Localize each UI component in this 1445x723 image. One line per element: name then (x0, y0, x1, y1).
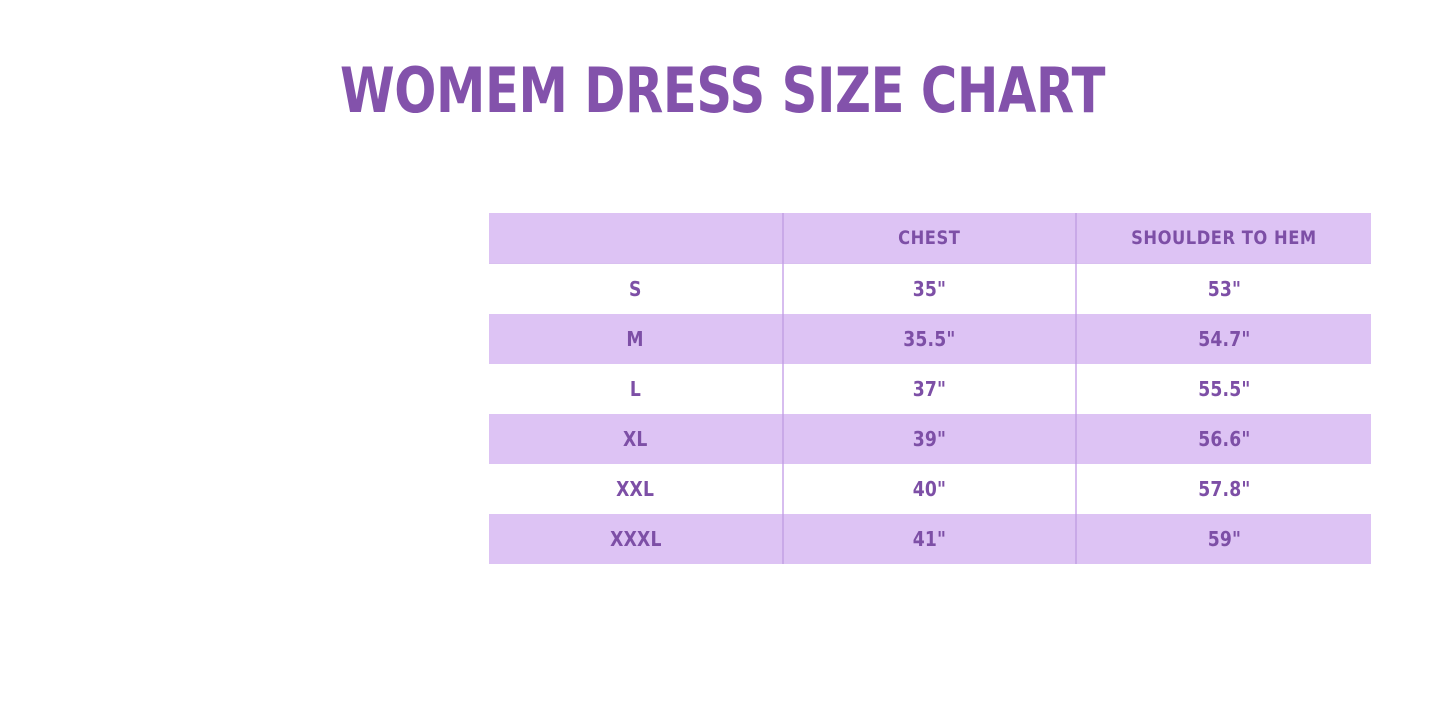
cell-size-label: XXL (616, 477, 654, 501)
cell-chest: 41" (783, 514, 1076, 564)
cell-chest-label: 37" (913, 377, 946, 401)
column-header-chest: CHEST (783, 213, 1076, 264)
cell-chest-label: 40" (913, 477, 946, 501)
cell-chest: 35" (783, 264, 1076, 315)
cell-shoulder-to-hem: 59" (1076, 514, 1371, 564)
table-row: S 35" 53" (489, 264, 1371, 315)
cell-size-label: XXXL (610, 527, 661, 551)
cell-shoulder-to-hem-label: 59" (1207, 527, 1240, 551)
cell-chest-label: 39" (913, 427, 946, 451)
cell-size: M (489, 314, 783, 364)
table-row: XXL 40" 57.8" (489, 464, 1371, 514)
cell-chest-label: 35.5" (903, 327, 955, 351)
cell-chest-label: 41" (913, 527, 946, 551)
size-chart-table: CHEST SHOULDER TO HEM S 35" 53" M 35.5" … (489, 213, 1371, 564)
table-body: S 35" 53" M 35.5" 54.7" L 37" 55.5" XL 3… (489, 264, 1371, 565)
column-header-size (489, 213, 783, 264)
column-header-shoulder-to-hem-label: SHOULDER TO HEM (1131, 227, 1317, 249)
table-header: CHEST SHOULDER TO HEM (489, 213, 1371, 264)
cell-size: XXL (489, 464, 783, 514)
cell-size: L (489, 364, 783, 414)
cell-shoulder-to-hem-label: 53" (1207, 277, 1240, 301)
cell-size-label: L (630, 377, 641, 401)
cell-chest: 40" (783, 464, 1076, 514)
cell-size: XL (489, 414, 783, 464)
cell-shoulder-to-hem-label: 57.8" (1198, 477, 1250, 501)
cell-shoulder-to-hem-label: 54.7" (1198, 327, 1250, 351)
cell-shoulder-to-hem-label: 55.5" (1198, 377, 1250, 401)
size-chart-table-container: CHEST SHOULDER TO HEM S 35" 53" M 35.5" … (489, 213, 1371, 565)
cell-chest-label: 35" (913, 277, 946, 301)
cell-size: XXXL (489, 514, 783, 564)
table-row: XL 39" 56.6" (489, 414, 1371, 464)
table-row: L 37" 55.5" (489, 364, 1371, 414)
column-header-shoulder-to-hem: SHOULDER TO HEM (1076, 213, 1371, 264)
cell-size-label: S (629, 277, 642, 301)
cell-shoulder-to-hem: 57.8" (1076, 464, 1371, 514)
cell-chest: 39" (783, 414, 1076, 464)
table-row: XXXL 41" 59" (489, 514, 1371, 564)
column-header-chest-label: CHEST (898, 227, 960, 249)
cell-size-label: M (627, 327, 644, 351)
page-title: WOMEM DRESS SIZE CHART (145, 52, 1301, 130)
cell-shoulder-to-hem: 55.5" (1076, 364, 1371, 414)
table-header-row: CHEST SHOULDER TO HEM (489, 213, 1371, 264)
cell-shoulder-to-hem-label: 56.6" (1198, 427, 1250, 451)
cell-size-label: XL (623, 427, 648, 451)
cell-size: S (489, 264, 783, 315)
cell-chest: 37" (783, 364, 1076, 414)
cell-shoulder-to-hem: 53" (1076, 264, 1371, 315)
cell-shoulder-to-hem: 54.7" (1076, 314, 1371, 364)
size-chart-page: WOMEM DRESS SIZE CHART CHEST SHOULDER TO… (0, 0, 1445, 723)
table-row: M 35.5" 54.7" (489, 314, 1371, 364)
cell-shoulder-to-hem: 56.6" (1076, 414, 1371, 464)
cell-chest: 35.5" (783, 314, 1076, 364)
